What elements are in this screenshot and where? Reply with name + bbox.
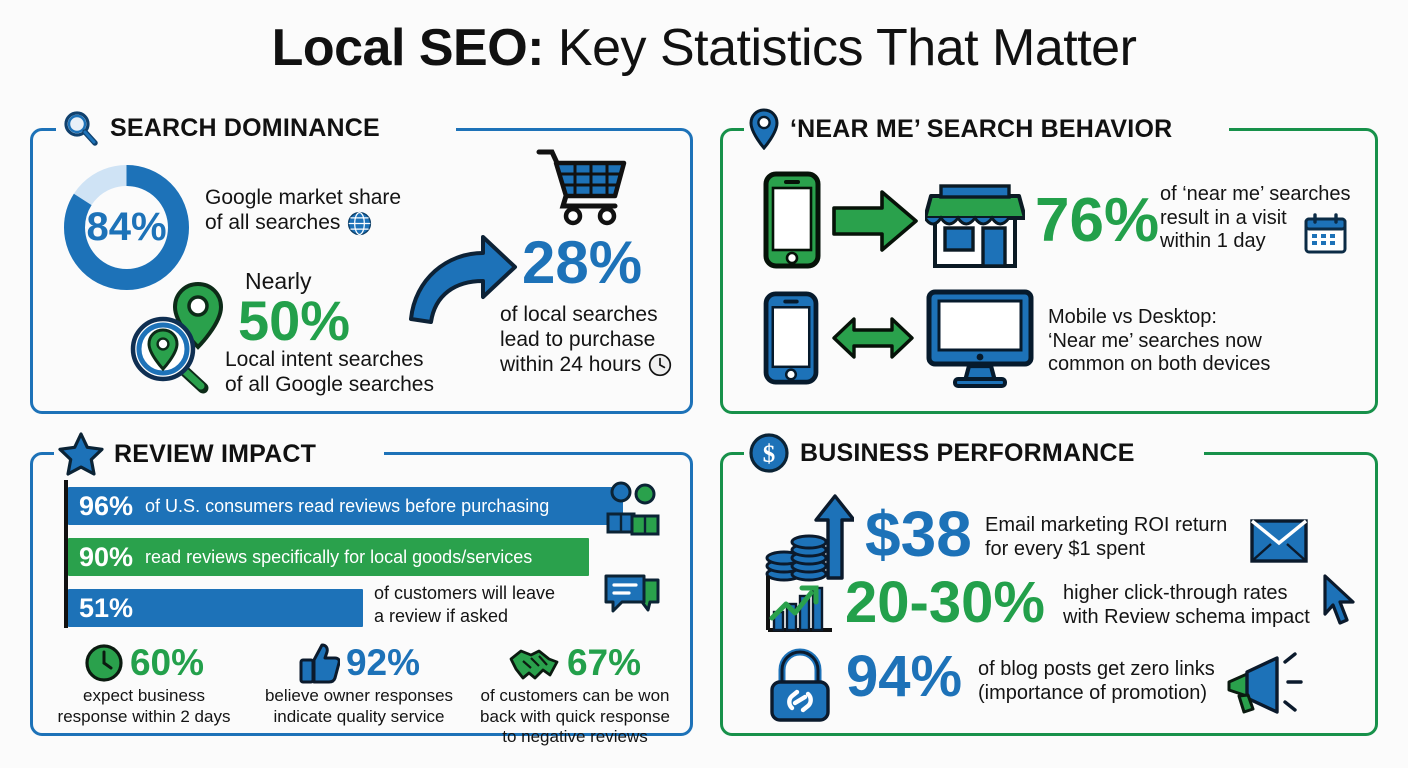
bp-row-2-line2: (importance of promotion) [978,682,1215,706]
page-title: Local SEO: Key Statistics That Matter [0,18,1408,78]
review-stat-1-row: 92% [250,642,468,684]
review-stat-0: 60% expect business response within 2 da… [38,642,250,727]
review-stat-1-caption: believe owner responses indicate quality… [250,686,468,727]
review-stat-2-row: 67% [462,642,688,684]
purchase-caption-line2: lead to purchase [500,328,672,353]
people-reading-icon [602,480,664,540]
bp-row-2-caption: of blog posts get zero links (importance… [978,658,1215,705]
megaphone-icon [1225,652,1303,718]
review-stat-1-line2: indicate quality service [250,707,468,728]
shopping-cart-icon [535,146,630,226]
clock-icon [648,353,672,377]
devices-caption: Mobile vs Desktop: ‘Near me’ searches no… [1048,306,1270,377]
review-stat-1-value: 92% [346,642,420,684]
bp-row-1-value: 20-30% [845,574,1045,632]
globe-icon [347,211,372,236]
panel-header-search-dominance: SEARCH DOMINANCE [60,108,380,148]
panel-title-text: SEARCH DOMINANCE [110,114,380,143]
google-share-caption-line2: of all searches [205,211,340,236]
near-me-visit-value: 76% [1035,190,1159,252]
phone-icon [762,290,820,386]
desktop-monitor-icon [925,288,1035,388]
review-stat-2-caption: of customers can be won back with quick … [462,686,688,748]
local-intent-caption-line2: of all Google searches [225,373,434,398]
bp-row-1-line2: with Review schema impact [1063,606,1310,630]
bar-row-90: 90% read reviews specifically for local … [68,538,589,576]
near-me-visit-caption-line1: of ‘near me’ searches [1160,183,1350,207]
storefront-icon [925,172,1025,272]
bar-chart-growth-icon [764,574,836,636]
phone-icon [762,170,822,270]
panel-header-near-me: ‘NEAR ME’ SEARCH BEHAVIOR [748,108,1172,150]
review-stat-0-row: 60% [38,642,250,684]
purchase-caption-line3: within 24 hours [500,353,641,378]
google-share-caption: Google market share of all searches [205,186,401,236]
devices-caption-line2: ‘Near me’ searches now [1048,330,1270,354]
local-intent-value: 50% [238,293,350,349]
review-stat-1: 92% believe owner responses indicate qua… [250,642,468,727]
svg-text:$: $ [763,441,776,468]
map-pin-search-icon [125,276,235,394]
calendar-icon [1303,213,1348,255]
bar-row-96: 96% of U.S. consumers read reviews befor… [68,487,623,525]
purchase-caption: of local searches lead to purchase withi… [500,303,672,377]
review-stat-0-line1: expect business [38,686,250,707]
review-stat-0-line2: response within 2 days [38,707,250,728]
bar-label-51-line1: of customers will leave [374,582,555,605]
location-pin-icon [748,108,780,150]
speech-bubbles-icon [602,574,664,626]
panel-near-me: ‘NEAR ME’ SEARCH BEHAVIOR 76% of ‘near m… [720,128,1378,414]
page-title-rest: Key Statistics That Matter [544,19,1136,77]
bar-value-51: 51% [68,593,133,624]
bar-label-96: of U.S. consumers read reviews before pu… [133,496,549,517]
bp-row-0-line2: for every $1 spent [985,538,1227,562]
review-stat-0-caption: expect business response within 2 days [38,686,250,727]
bar-value-90: 90% [68,542,133,573]
dollar-circle-icon: $ [748,432,790,474]
bar-label-90: read reviews specifically for local good… [133,547,532,568]
review-stat-1-line1: believe owner responses [250,686,468,707]
review-stat-0-value: 60% [130,642,204,684]
panel-title-text: ‘NEAR ME’ SEARCH BEHAVIOR [790,115,1172,144]
panel-header-business-performance: $ BUSINESS PERFORMANCE [748,432,1135,474]
review-stat-2-line3: to negative reviews [462,727,688,748]
handshake-icon [509,643,561,683]
bar-label-51-line2: a review if asked [374,605,555,628]
arrow-right-icon [832,190,920,252]
envelope-icon [1250,519,1308,563]
panel-title-text: REVIEW IMPACT [114,440,316,469]
donut-center-value: 84% [60,161,193,294]
double-arrow-icon [832,314,914,362]
purchase-value: 28% [522,233,642,293]
bp-row-0-caption: Email marketing ROI return for every $1 … [985,514,1227,561]
google-share-donut: 84% [60,161,193,294]
devices-caption-line1: Mobile vs Desktop: [1048,306,1270,330]
review-stat-2-line1: of customers can be won [462,686,688,707]
bp-row-2-value: 94% [846,648,962,706]
panel-review-impact: REVIEW IMPACT 96% of U.S. consumers read… [30,452,693,736]
bp-row-2-line1: of blog posts get zero links [978,658,1215,682]
bp-row-0-value: $38 [865,502,972,566]
thumbs-up-icon [298,642,340,684]
cursor-arrow-icon [1320,574,1362,628]
clock-icon [84,643,124,683]
bar-row-51: 51% [68,589,363,627]
coins-growth-arrow-icon [762,494,854,586]
bp-row-1-caption: higher click-through rates with Review s… [1063,582,1310,629]
local-intent-caption: Local intent searches of all Google sear… [225,348,434,398]
padlock-link-icon [764,648,836,724]
review-stat-2-line2: back with quick response [462,707,688,728]
panel-search-dominance: SEARCH DOMINANCE 84% Google market share… [30,128,693,414]
panel-business-performance: $ BUSINESS PERFORMANCE $38 Email marketi… [720,452,1378,736]
bp-row-0-line1: Email marketing ROI return [985,514,1227,538]
devices-caption-line3: common on both devices [1048,353,1270,377]
bar-value-96: 96% [68,491,133,522]
magnifier-icon [60,108,100,148]
page-title-bold: Local SEO: [272,19,544,77]
panel-header-review-impact: REVIEW IMPACT [58,432,316,476]
panel-title-text: BUSINESS PERFORMANCE [800,439,1135,468]
purchase-caption-line1: of local searches [500,303,672,328]
bp-row-1-line1: higher click-through rates [1063,582,1310,606]
bar-label-51: of customers will leave a review if aske… [374,582,555,627]
star-icon [58,432,104,476]
local-intent-caption-line1: Local intent searches [225,348,434,373]
review-stat-2-value: 67% [567,642,641,684]
review-stat-2: 67% of customers can be won back with qu… [462,642,688,748]
google-share-caption-line1: Google market share [205,186,401,211]
